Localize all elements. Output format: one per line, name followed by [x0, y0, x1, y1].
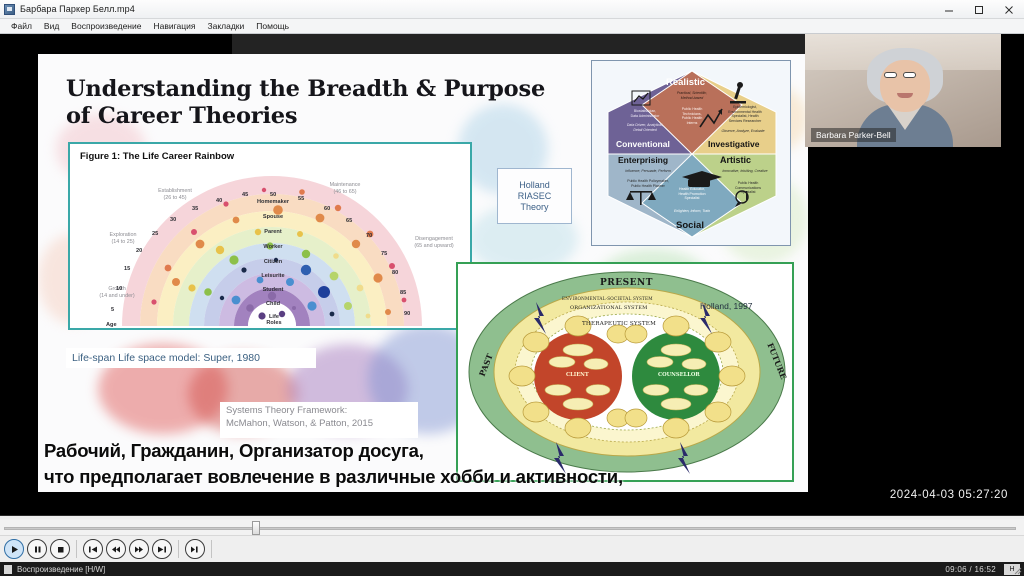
- rainbow-role-homemaker: Homemaker: [242, 199, 304, 205]
- age-tick: 90: [404, 311, 410, 317]
- age-tick: 75: [381, 251, 387, 257]
- rainbow-role-leisurite: Leisurite: [242, 273, 304, 279]
- slide-title-line1: Understanding the Breadth & Purpose: [66, 76, 586, 103]
- super-model-text: Life-span Life space model: Super, 1980: [72, 352, 260, 364]
- menu-bookmarks[interactable]: Закладки: [201, 21, 250, 31]
- rewind-button[interactable]: [106, 539, 126, 559]
- age-tick: 50: [270, 192, 276, 198]
- webcam-overlay: Barbara Parker-Bell: [805, 34, 1001, 147]
- page-title: Understanding the Breadth & Purpose of C…: [66, 76, 586, 131]
- webcam-face: [880, 60, 930, 112]
- age-tick: 25: [152, 231, 158, 237]
- stf-client-label: CLIENT: [566, 372, 589, 378]
- age-tick: 80: [392, 270, 398, 276]
- stf-organizational-label: ORGANIZATIONAL SYSTEM: [570, 305, 647, 311]
- riasec-traits-conventional: Data Driven, Analytical, Detail Oriented: [612, 123, 678, 132]
- window-controls: [934, 0, 1024, 19]
- menu-bar: Файл Вид Воспроизведение Навигация Закла…: [0, 19, 1024, 34]
- presentation-slide: Understanding the Breadth & Purpose of C…: [38, 54, 808, 492]
- stf-label-line1: Systems Theory Framework:: [226, 405, 418, 418]
- stf-counsellor-label: COUNSELLOR: [658, 372, 700, 378]
- rainbow-role-child: Child: [242, 301, 304, 307]
- age-tick: 15: [124, 266, 130, 272]
- rainbow-stage-establishment: Establishment(26 to 45): [144, 188, 206, 202]
- riasec-sector-conventional: Conventional: [616, 139, 670, 149]
- riasec-careers-conventional: Biostatistician, Data Administrator: [612, 109, 678, 118]
- webcam-name-label: Barbara Parker-Bell: [811, 128, 896, 142]
- seek-bar-row[interactable]: [0, 519, 1024, 536]
- riasec-traits-investigative: Observe, Analyze, Evaluate: [710, 129, 776, 134]
- seek-handle[interactable]: [252, 521, 260, 535]
- age-tick: 40: [216, 198, 222, 204]
- age-tick: 35: [192, 206, 198, 212]
- stop-button[interactable]: [50, 539, 70, 559]
- riasec-sector-social: Social: [676, 220, 704, 231]
- previous-button[interactable]: [83, 539, 103, 559]
- stop-icon: [56, 545, 65, 554]
- holland-riasec-label: Holland RIASEC Theory: [497, 168, 572, 224]
- subtitle-overlay: Рабочий, Гражданин, Организатор досуга, …: [44, 438, 623, 491]
- age-tick: 5: [111, 307, 114, 313]
- menu-playback[interactable]: Воспроизведение: [65, 21, 147, 31]
- toolbar-separator: [178, 540, 179, 558]
- rainbow-center-label: LifeRoles: [254, 314, 294, 326]
- skip-forward-icon: [157, 545, 167, 554]
- webcam-mouth: [897, 93, 913, 98]
- status-icon: [4, 565, 12, 574]
- riasec-traits-social: Enlighten, Inform, Train: [659, 209, 725, 214]
- status-bar: Воспроизведение [H/W] 09:06 / 16:52 H: [0, 562, 1024, 576]
- pause-icon: [33, 545, 42, 554]
- subtitle-line-1: Рабочий, Гражданин, Организатор досуга,: [44, 438, 623, 464]
- glasses-right-icon: [903, 72, 916, 78]
- toolbar-separator: [76, 540, 77, 558]
- riasec-traits-enterprising: Influence, Persuade, Perform: [612, 169, 684, 174]
- riasec-careers-enterprising: Public Health Policymaker, Public Health…: [610, 179, 686, 188]
- age-tick: 55: [298, 196, 304, 202]
- title-bar: Барбара Паркер Белл.mp4: [0, 0, 1024, 19]
- stf-therapeutic-label: THERAPEUTIC SYSTEM: [582, 321, 656, 327]
- stf-present-label: PRESENT: [600, 278, 653, 288]
- video-timestamp-overlay: 2024-04-03 05:27:20: [890, 489, 1008, 501]
- skip-back-icon: [88, 545, 98, 554]
- holland-label-line1: Holland: [519, 180, 550, 190]
- fast-forward-button[interactable]: [129, 539, 149, 559]
- next-button[interactable]: [152, 539, 172, 559]
- media-player-icon: [4, 4, 15, 15]
- rainbow-role-spouse: Spouse: [242, 214, 304, 220]
- fast-forward-icon: [134, 545, 144, 554]
- play-button[interactable]: [4, 539, 24, 559]
- rewind-icon: [111, 545, 121, 554]
- age-tick: 30: [170, 217, 176, 223]
- transport-buttons: [0, 537, 1024, 561]
- maximize-icon[interactable]: [964, 0, 994, 19]
- riasec-hexagon-figure: Realistic Investigative Artistic Social …: [591, 60, 791, 246]
- rainbow-stage-maintenance: Maintenance(46 to 65): [314, 182, 376, 196]
- riasec-sector-realistic: Realistic: [666, 77, 705, 88]
- riasec-sector-artistic: Artistic: [720, 155, 751, 165]
- systems-theory-framework-label: Systems Theory Framework: McMahon, Watso…: [220, 402, 418, 438]
- menu-help[interactable]: Помощь: [250, 21, 295, 31]
- play-icon: [10, 545, 19, 554]
- menu-view[interactable]: Вид: [38, 21, 65, 31]
- step-frame-button[interactable]: [185, 539, 205, 559]
- age-tick: 60: [324, 206, 330, 212]
- toolbar-separator: [211, 540, 212, 558]
- age-tick: 85: [400, 290, 406, 296]
- riasec-careers-investigative: Epidemiologist, Environmental Health Spe…: [712, 105, 778, 123]
- video-canvas[interactable]: Understanding the Breadth & Purpose of C…: [0, 34, 1024, 515]
- holland-citation: Holland, 1997: [700, 301, 752, 311]
- glasses-left-icon: [884, 72, 897, 78]
- age-tick: 20: [136, 248, 142, 254]
- player-controls-bar: Воспроизведение [H/W] 09:06 / 16:52 H: [0, 515, 1024, 576]
- holland-label-line3: Theory: [520, 202, 548, 212]
- media-player-window: Барбара Паркер Белл.mp4 Файл Вид Воспрои…: [0, 0, 1024, 576]
- rainbow-stage-disengagement: Disengagement(65 and upward): [400, 236, 468, 250]
- holland-label-line2: RIASEC: [518, 191, 552, 201]
- rainbow-stage-exploration: Exploration(14 to 25): [94, 232, 152, 246]
- age-tick: 65: [346, 218, 352, 224]
- slide-title-line2: of Career Theories: [66, 103, 586, 130]
- pause-button[interactable]: [27, 539, 47, 559]
- window-title: Барбара Паркер Белл.mp4: [20, 4, 135, 14]
- menu-navigation[interactable]: Навигация: [147, 21, 201, 31]
- close-icon[interactable]: [994, 0, 1024, 19]
- riasec-traits-artistic: Innovative, Intuiting, Creative: [712, 169, 778, 174]
- seek-track[interactable]: [4, 527, 1016, 530]
- menu-file[interactable]: Файл: [5, 21, 38, 31]
- time-display: 09:06 / 16:52: [945, 565, 996, 574]
- riasec-careers-social: Health Educator, Health Promotion Specia…: [659, 187, 725, 201]
- riasec-sector-enterprising: Enterprising: [618, 155, 668, 165]
- subtitle-line-2: что предполагает вовлечение в различные …: [44, 464, 623, 490]
- rainbow-age-axis-label: Age: [106, 322, 117, 328]
- life-career-rainbow-figure: Figure 1: The Life Career Rainbow: [68, 142, 472, 330]
- minimize-icon[interactable]: [934, 0, 964, 19]
- rainbow-role-parent: Parent: [242, 229, 304, 235]
- rainbow-role-citizen: Citizen: [242, 259, 304, 265]
- age-tick: 10: [116, 286, 122, 292]
- rainbow-role-student: Student: [242, 287, 304, 293]
- playback-status-text: Воспроизведение [H/W]: [17, 565, 105, 574]
- step-frame-icon: [190, 545, 200, 554]
- age-tick: 70: [366, 233, 372, 239]
- stf-environmental-label: ENVIRONMENTAL-SOCIETAL SYSTEM: [562, 296, 653, 301]
- stf-label-line2: McMahon, Watson, & Patton, 2015: [226, 418, 418, 431]
- riasec-sector-investigative: Investigative: [708, 139, 760, 149]
- age-tick: 45: [242, 192, 248, 198]
- rainbow-role-worker: Worker: [242, 244, 304, 250]
- super-model-label: Life-span Life space model: Super, 1980: [66, 348, 316, 368]
- riasec-traits-realistic: Practical, Scientific, Method-based: [659, 91, 725, 100]
- resize-grip-icon[interactable]: [1012, 565, 1022, 575]
